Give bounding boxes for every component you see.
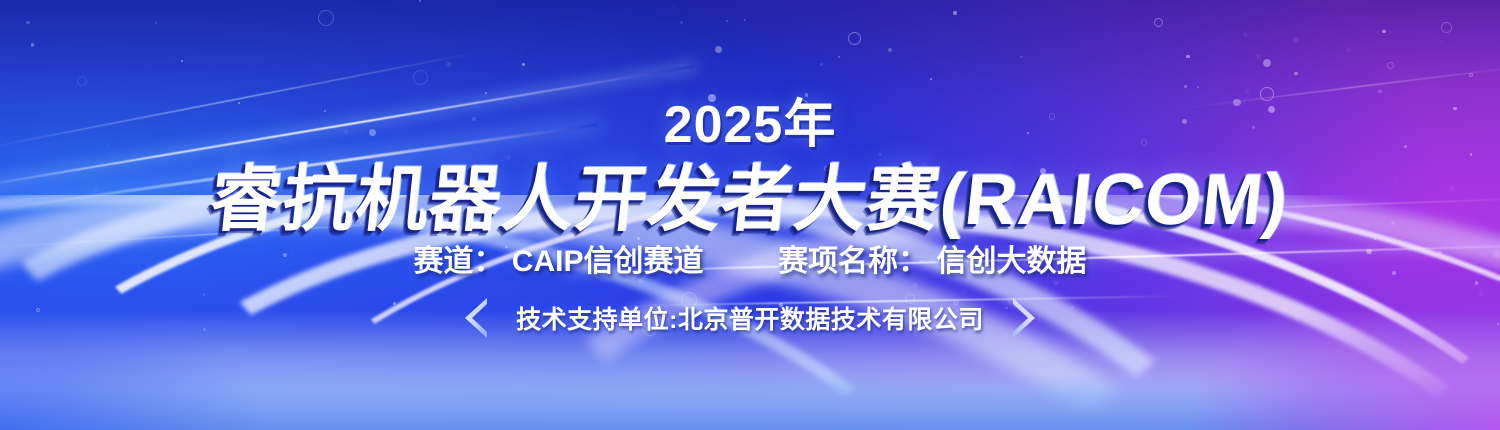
support-strip: 技术支持单位:北京普开数据技术有限公司 <box>0 296 1500 340</box>
banner-content: 2025年 睿抗机器人开发者大赛(RAICOM) 赛道： CAIP信创赛道 赛项… <box>0 0 1500 430</box>
event-name-text: 赛项名称： 信创大数据 <box>778 245 1086 278</box>
chevron-right-icon <box>1006 296 1040 340</box>
subtitle-row: 赛道： CAIP信创赛道 赛项名称： 信创大数据 <box>0 236 1500 280</box>
track-text: 赛道： CAIP信创赛道 <box>413 245 703 278</box>
chevron-left-icon <box>460 296 494 340</box>
event-banner: 2025年 睿抗机器人开发者大赛(RAICOM) 赛道： CAIP信创赛道 赛项… <box>0 0 1500 430</box>
main-title: 睿抗机器人开发者大赛(RAICOM) <box>0 140 1500 245</box>
support-text: 技术支持单位:北京普开数据技术有限公司 <box>516 300 984 336</box>
